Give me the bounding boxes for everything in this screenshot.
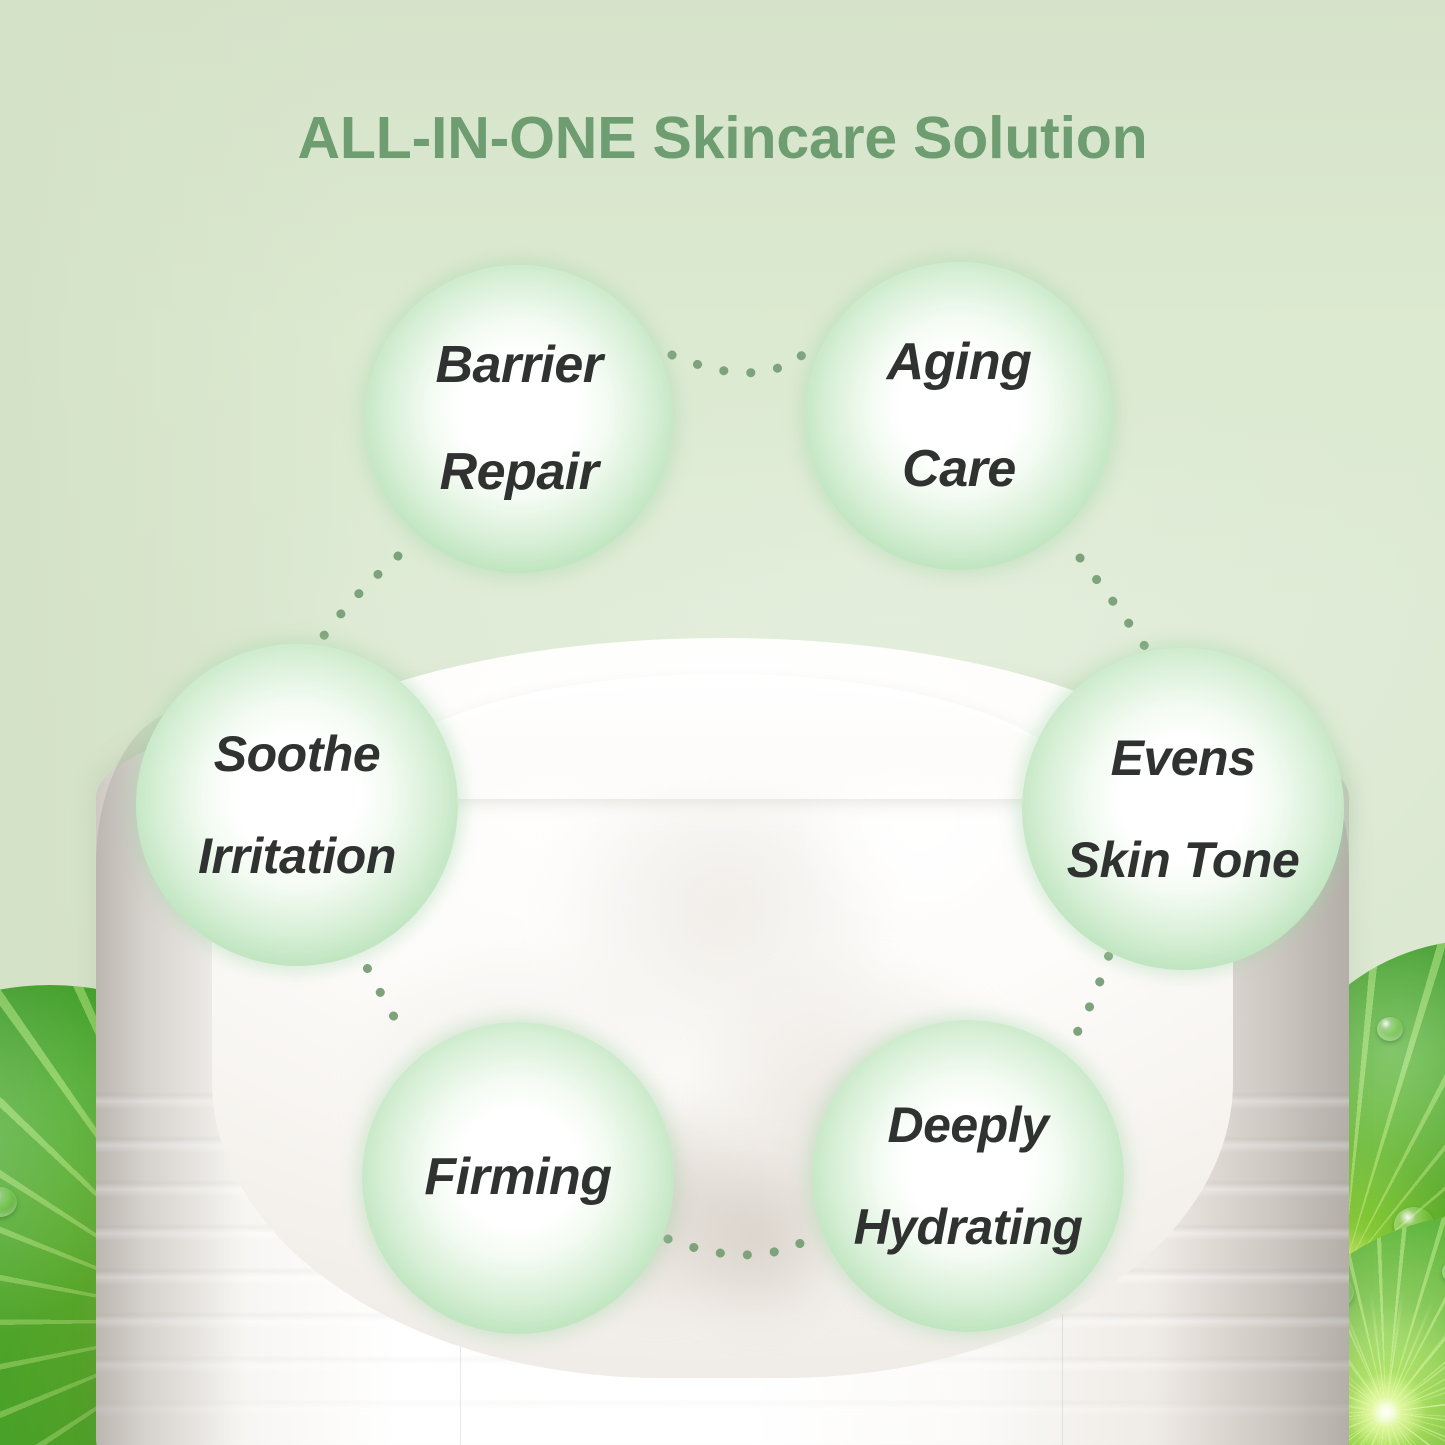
benefit-label-line1: Evens xyxy=(1057,733,1310,784)
benefit-label-aging-care: AgingCare xyxy=(867,336,1052,495)
benefit-label-deeply-hydrating: DeeplyHydrating xyxy=(834,1100,1103,1253)
benefit-label-line1: Aging xyxy=(877,336,1042,389)
infographic-canvas: BarrierRepair AgingCare SootheIrritation… xyxy=(0,0,1445,1445)
benefit-label-barrier-repair: BarrierRepair xyxy=(415,339,622,498)
benefit-label-line2: Skin Tone xyxy=(1057,835,1310,886)
benefit-label-line2: Care xyxy=(877,443,1042,496)
benefit-label-soothe-irritation: SootheIrritation xyxy=(178,729,416,882)
benefit-bubble-evens-skin-tone[interactable]: EvensSkin Tone xyxy=(1022,648,1344,970)
benefit-label-firming: Firming xyxy=(414,1151,621,1204)
benefit-label-line2: Irritation xyxy=(188,831,406,882)
benefit-label-line1: Soothe xyxy=(188,729,406,780)
benefit-bubble-firming[interactable]: Firming xyxy=(362,1022,674,1334)
benefit-bubble-deeply-hydrating[interactable]: DeeplyHydrating xyxy=(812,1020,1124,1332)
benefit-label-line2: Hydrating xyxy=(844,1202,1093,1253)
benefit-label-evens-skin-tone: EvensSkin Tone xyxy=(1047,733,1320,886)
benefit-label-line1: Barrier xyxy=(425,339,612,392)
benefit-label-line1: Deeply xyxy=(844,1100,1093,1151)
benefit-bubble-barrier-repair[interactable]: BarrierRepair xyxy=(365,265,673,573)
benefit-bubble-soothe-irritation[interactable]: SootheIrritation xyxy=(136,644,458,966)
benefit-bubble-aging-care[interactable]: AgingCare xyxy=(805,262,1113,570)
benefit-label-line2: Repair xyxy=(425,446,612,499)
jar-rim-arc xyxy=(362,674,1083,799)
page-title: ALL-IN-ONE Skincare Solution xyxy=(0,104,1445,172)
cream-peak-shadow xyxy=(682,1108,832,1368)
